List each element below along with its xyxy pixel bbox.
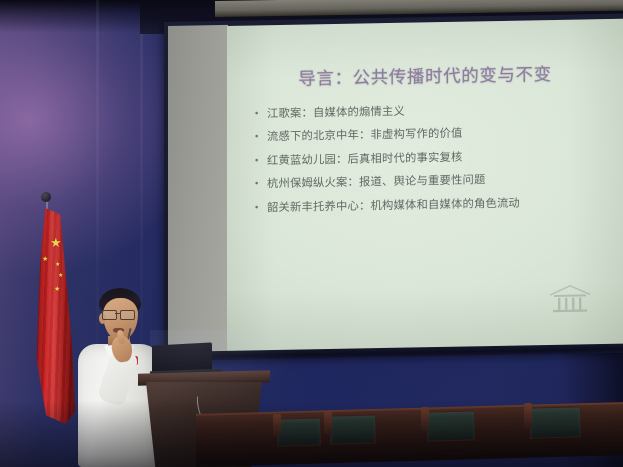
bullet-marker-icon: • xyxy=(254,103,267,126)
chair xyxy=(530,406,581,438)
glasses-lens-left xyxy=(102,310,117,320)
flag-star-icon: ★ xyxy=(58,273,63,279)
chair-armrest xyxy=(273,414,281,436)
glasses-lens-right xyxy=(120,310,135,320)
projection-screen-side-panel xyxy=(168,25,228,357)
building-logo-icon xyxy=(547,280,593,315)
flag-finial-icon xyxy=(41,192,51,202)
flag-star-icon: ★ xyxy=(42,256,48,263)
slide-bullet-list: • 江歌案：自媒体的煽情主义 • 流感下的北京中年：非虚构写作的价值 • 红黄蓝… xyxy=(254,97,615,221)
chair-armrest xyxy=(524,403,532,428)
bullet-marker-icon: • xyxy=(254,197,267,220)
flag-star-icon: ★ xyxy=(50,237,62,250)
chair-armrest xyxy=(421,407,429,431)
bullet-text: 韶关新丰托养中心：机构媒体和自媒体的角色流动 xyxy=(267,192,520,219)
lecture-hall-scene: 导言：公共传播时代的变与不变 • 江歌案：自媒体的煽情主义 • 流感下的北京中年… xyxy=(0,0,623,467)
chair xyxy=(427,410,475,441)
bullet-text: 流感下的北京中年：非虚构写作的价值 xyxy=(267,123,462,149)
bullet-text: 杭州保姆纵火案：报道、舆论与重要性问题 xyxy=(267,169,485,195)
flag-star-icon: ★ xyxy=(55,262,60,268)
bullet-text: 红黄蓝幼儿园：后真相时代的事实复核 xyxy=(267,146,462,172)
presentation-slide: 导言：公共传播时代的变与不变 • 江歌案：自媒体的煽情主义 • 流感下的北京中年… xyxy=(227,19,623,357)
chair xyxy=(277,417,321,446)
bullet-marker-icon: • xyxy=(254,127,267,150)
flag-star-icon: ★ xyxy=(54,286,60,293)
bullet-text: 江歌案：自媒体的煽情主义 xyxy=(267,101,405,126)
bullet-marker-icon: • xyxy=(254,173,267,196)
chair-armrest xyxy=(324,411,332,434)
speaker-glasses-icon xyxy=(102,310,136,318)
chair xyxy=(330,414,376,444)
slide-title: 导言：公共传播时代的变与不变 xyxy=(227,60,623,92)
bullet-marker-icon: • xyxy=(254,150,267,173)
